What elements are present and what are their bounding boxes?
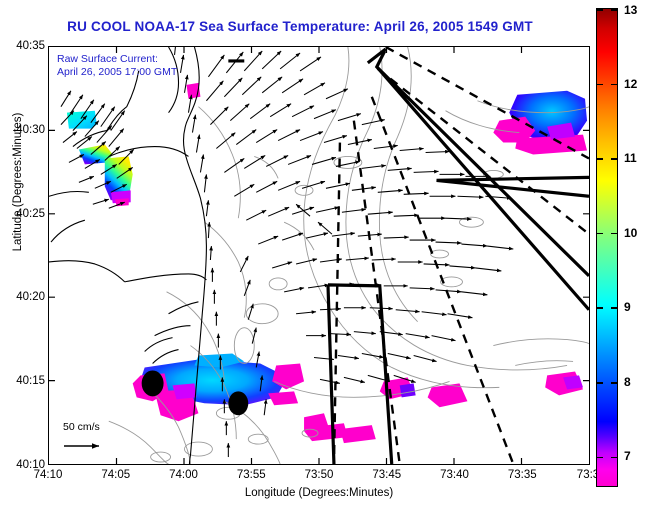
colorbar-tick-label: 11	[624, 151, 637, 165]
figure-title: RU COOL NOAA-17 Sea Surface Temperature:…	[0, 19, 600, 34]
colorbar-tick	[611, 158, 617, 160]
x-axis-label: Longitude (Degrees:Minutes)	[48, 487, 590, 499]
colorbar-tick	[611, 9, 617, 11]
colorbar-tick	[611, 307, 617, 309]
current-legend-line-2: April 26, 2005 17:00 GMT	[57, 66, 177, 79]
x-tick-label: 73:45	[372, 469, 401, 481]
colorbar-tick	[611, 233, 617, 235]
colorbar-tick	[611, 84, 617, 86]
y-tick-label: 40:15	[16, 375, 45, 387]
sst-patch-mid-magenta-2	[340, 425, 376, 443]
colorbar-tick-label: 9	[624, 300, 631, 314]
station-marker-east	[228, 391, 248, 415]
colorbar-tick-label: 7	[624, 449, 631, 463]
y-tick-label: 40:20	[16, 291, 45, 303]
map-plot-area[interactable]: Raw Surface Current: April 26, 2005 17:0…	[48, 46, 590, 465]
colorbar-tick-label: 10	[624, 226, 637, 240]
sst-map-figure: RU COOL NOAA-17 Sea Surface Temperature:…	[0, 0, 651, 515]
colorbar-tick	[597, 233, 603, 235]
scalebar-label: 50 cm/s	[63, 421, 100, 433]
sst-patch-south-magenta-se	[268, 391, 298, 405]
colorbar-tick	[597, 382, 603, 384]
x-tick-label: 74:05	[101, 469, 130, 481]
colorbar-tick	[597, 307, 603, 309]
sst-patch-mid-violet	[400, 383, 416, 397]
temperature-colorbar[interactable]	[596, 8, 618, 487]
colorbar-tick	[597, 457, 603, 459]
colorbar-tick	[597, 158, 603, 160]
station-marker-west	[142, 370, 164, 396]
y-tick-label: 40:35	[16, 40, 45, 52]
current-legend-line-1: Raw Surface Current:	[57, 53, 158, 66]
colorbar-tick	[597, 84, 603, 86]
y-axis-label: Latitude (Degrees:Minutes)	[12, 72, 24, 292]
x-tick-label: 73:55	[237, 469, 266, 481]
x-axis-tick-labels: 74:10 74:05 74:00 73:55 73:50 73:45 73:4…	[48, 469, 590, 487]
scalebar-arrow-icon	[63, 439, 113, 453]
colorbar-tick-label: 12	[624, 77, 637, 91]
colorbar-tick-label: 8	[624, 375, 631, 389]
x-tick-label: 73:35	[508, 469, 537, 481]
map-canvas	[49, 47, 589, 464]
x-tick-label: 73:50	[305, 469, 334, 481]
colorbar-tick	[611, 457, 617, 459]
x-tick-label: 74:00	[169, 469, 198, 481]
colorbar-tick	[611, 382, 617, 384]
x-tick-label: 73:40	[440, 469, 469, 481]
colorbar-tick	[597, 9, 603, 11]
sst-patch-south-violet	[173, 383, 197, 399]
x-tick-label: 74:10	[34, 469, 63, 481]
colorbar-tick-label: 13	[624, 3, 637, 17]
